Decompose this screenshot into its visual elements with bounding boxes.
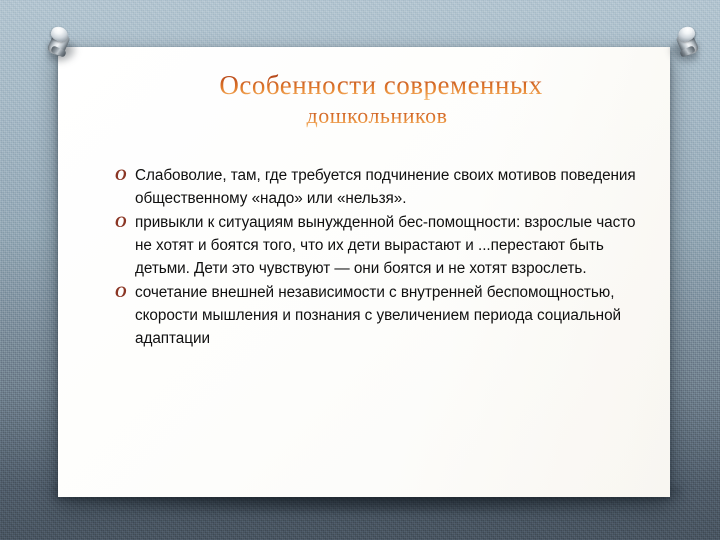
list-item-text: сочетание внешней независимости с внутре… xyxy=(135,281,642,350)
page-title: Особенности современных дошкольников xyxy=(58,71,670,128)
list-item-text: привыкли к ситуациям вынужденной бес-пом… xyxy=(135,211,642,280)
bullet-list: O Слабоволие, там, где требуется подчине… xyxy=(115,164,642,351)
title-line-1: Особенности современных xyxy=(58,71,670,100)
push-pin-icon xyxy=(42,24,82,70)
bullet-marker-icon: O xyxy=(115,164,135,187)
bullet-marker-icon: O xyxy=(115,211,135,234)
list-item-text: Слабоволие, там, где требуется подчинени… xyxy=(135,164,642,210)
list-item: O сочетание внешней независимости с внут… xyxy=(115,281,642,350)
list-item: O Слабоволие, там, где требуется подчине… xyxy=(115,164,642,210)
list-item: O привыкли к ситуациям вынужденной бес-п… xyxy=(115,211,642,280)
paper-card: Особенности современных дошкольников O С… xyxy=(58,47,670,497)
slide-canvas: Особенности современных дошкольников O С… xyxy=(0,0,720,540)
bullet-marker-icon: O xyxy=(115,281,135,304)
title-line-2: дошкольников xyxy=(58,104,670,128)
push-pin-icon xyxy=(664,24,704,70)
